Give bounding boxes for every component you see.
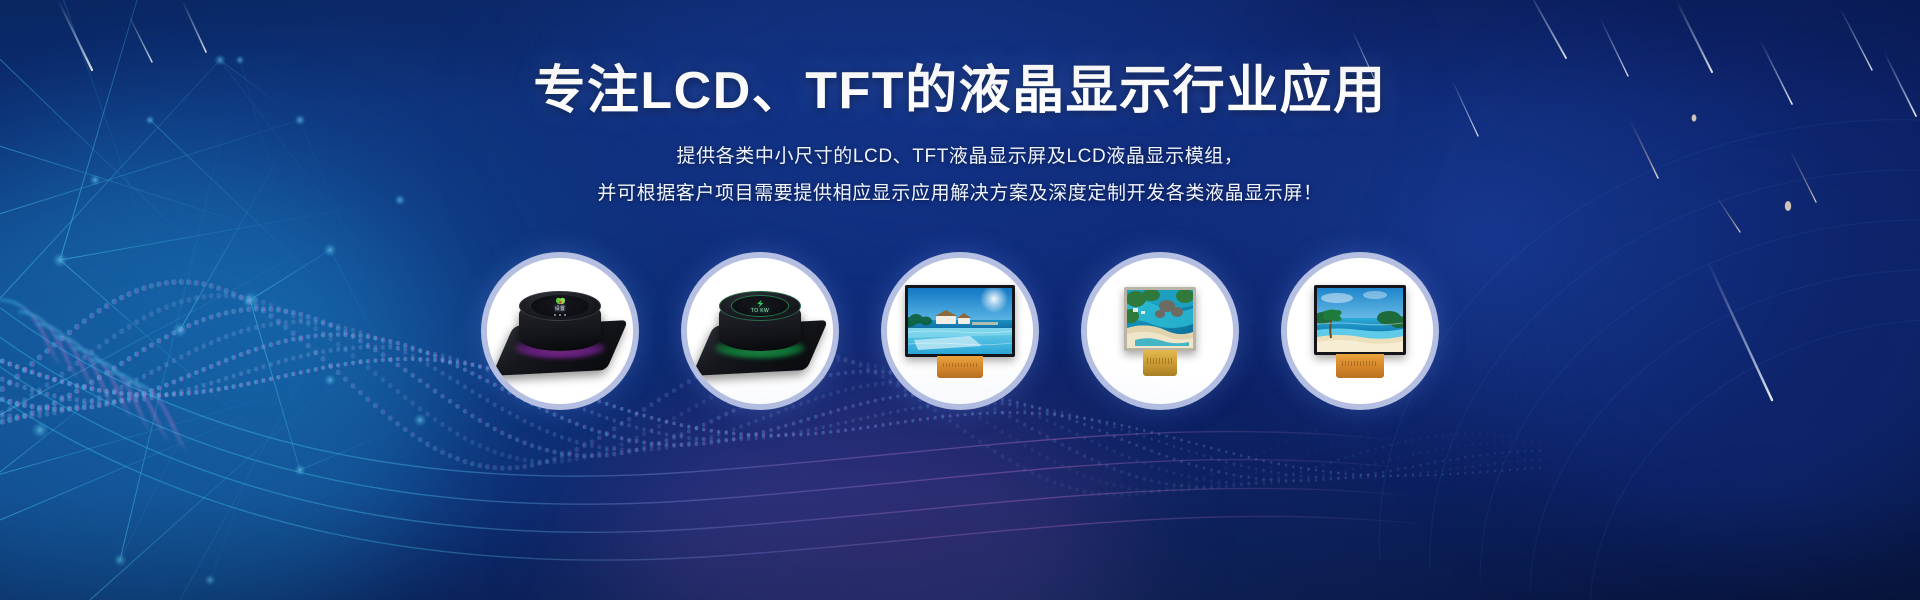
device-screen: 设置	[531, 295, 589, 317]
product-circle-3[interactable]	[881, 252, 1039, 410]
subtitle-line-2: 并可根据客户项目需要提供相应显示应用解决方案及深度定制开发各类液晶显示屏！	[0, 175, 1920, 212]
tft-flex-cable	[1143, 350, 1177, 376]
subtitle-line-1: 提供各类中小尺寸的LCD、TFT液晶显示屏及LCD液晶显示模组，	[0, 138, 1920, 175]
product-image-tft-display-beach-scene	[1287, 258, 1433, 404]
tft-flex-cable	[937, 356, 983, 378]
product-image-round-led-device-green: TO KW	[687, 258, 833, 404]
device-screen-dots	[554, 314, 566, 316]
product-circle-1[interactable]: 设置	[481, 252, 639, 410]
leaf-logo-icon	[555, 297, 566, 306]
device-screen-label: 设置	[555, 307, 566, 312]
tft-screen-lagoon-scene	[1127, 290, 1193, 348]
bolt-logo-icon	[755, 299, 766, 308]
tft-flex-cable	[1336, 354, 1384, 378]
glow-bottom-pink	[600, 400, 1120, 600]
device-screen: TO KW	[731, 295, 789, 317]
product-image-round-led-device-purple: 设置	[487, 258, 633, 404]
product-image-tft-display-pool-scene	[887, 258, 1033, 404]
product-circle-5[interactable]	[1281, 252, 1439, 410]
tft-bezel	[905, 285, 1015, 357]
banner-subtitle: 提供各类中小尺寸的LCD、TFT液晶显示屏及LCD液晶显示模组， 并可根据客户项…	[0, 138, 1920, 212]
hero-banner: 专注LCD、TFT的液晶显示行业应用 提供各类中小尺寸的LCD、TFT液晶显示屏…	[0, 0, 1920, 600]
tft-screen-pool-scene	[908, 288, 1012, 354]
product-image-tft-display-lagoon-scene	[1087, 258, 1233, 404]
banner-text-block: 专注LCD、TFT的液晶显示行业应用 提供各类中小尺寸的LCD、TFT液晶显示屏…	[0, 62, 1920, 212]
device-screen-label: TO KW	[751, 309, 769, 314]
product-circle-4[interactable]	[1081, 252, 1239, 410]
page-title: 专注LCD、TFT的液晶显示行业应用	[0, 62, 1920, 120]
tft-bezel	[1124, 287, 1196, 351]
product-circle-row: 设置	[0, 241, 1920, 421]
tft-bezel	[1314, 285, 1406, 355]
tft-screen-beach-scene	[1317, 288, 1403, 352]
product-circle-2[interactable]: TO KW	[681, 252, 839, 410]
